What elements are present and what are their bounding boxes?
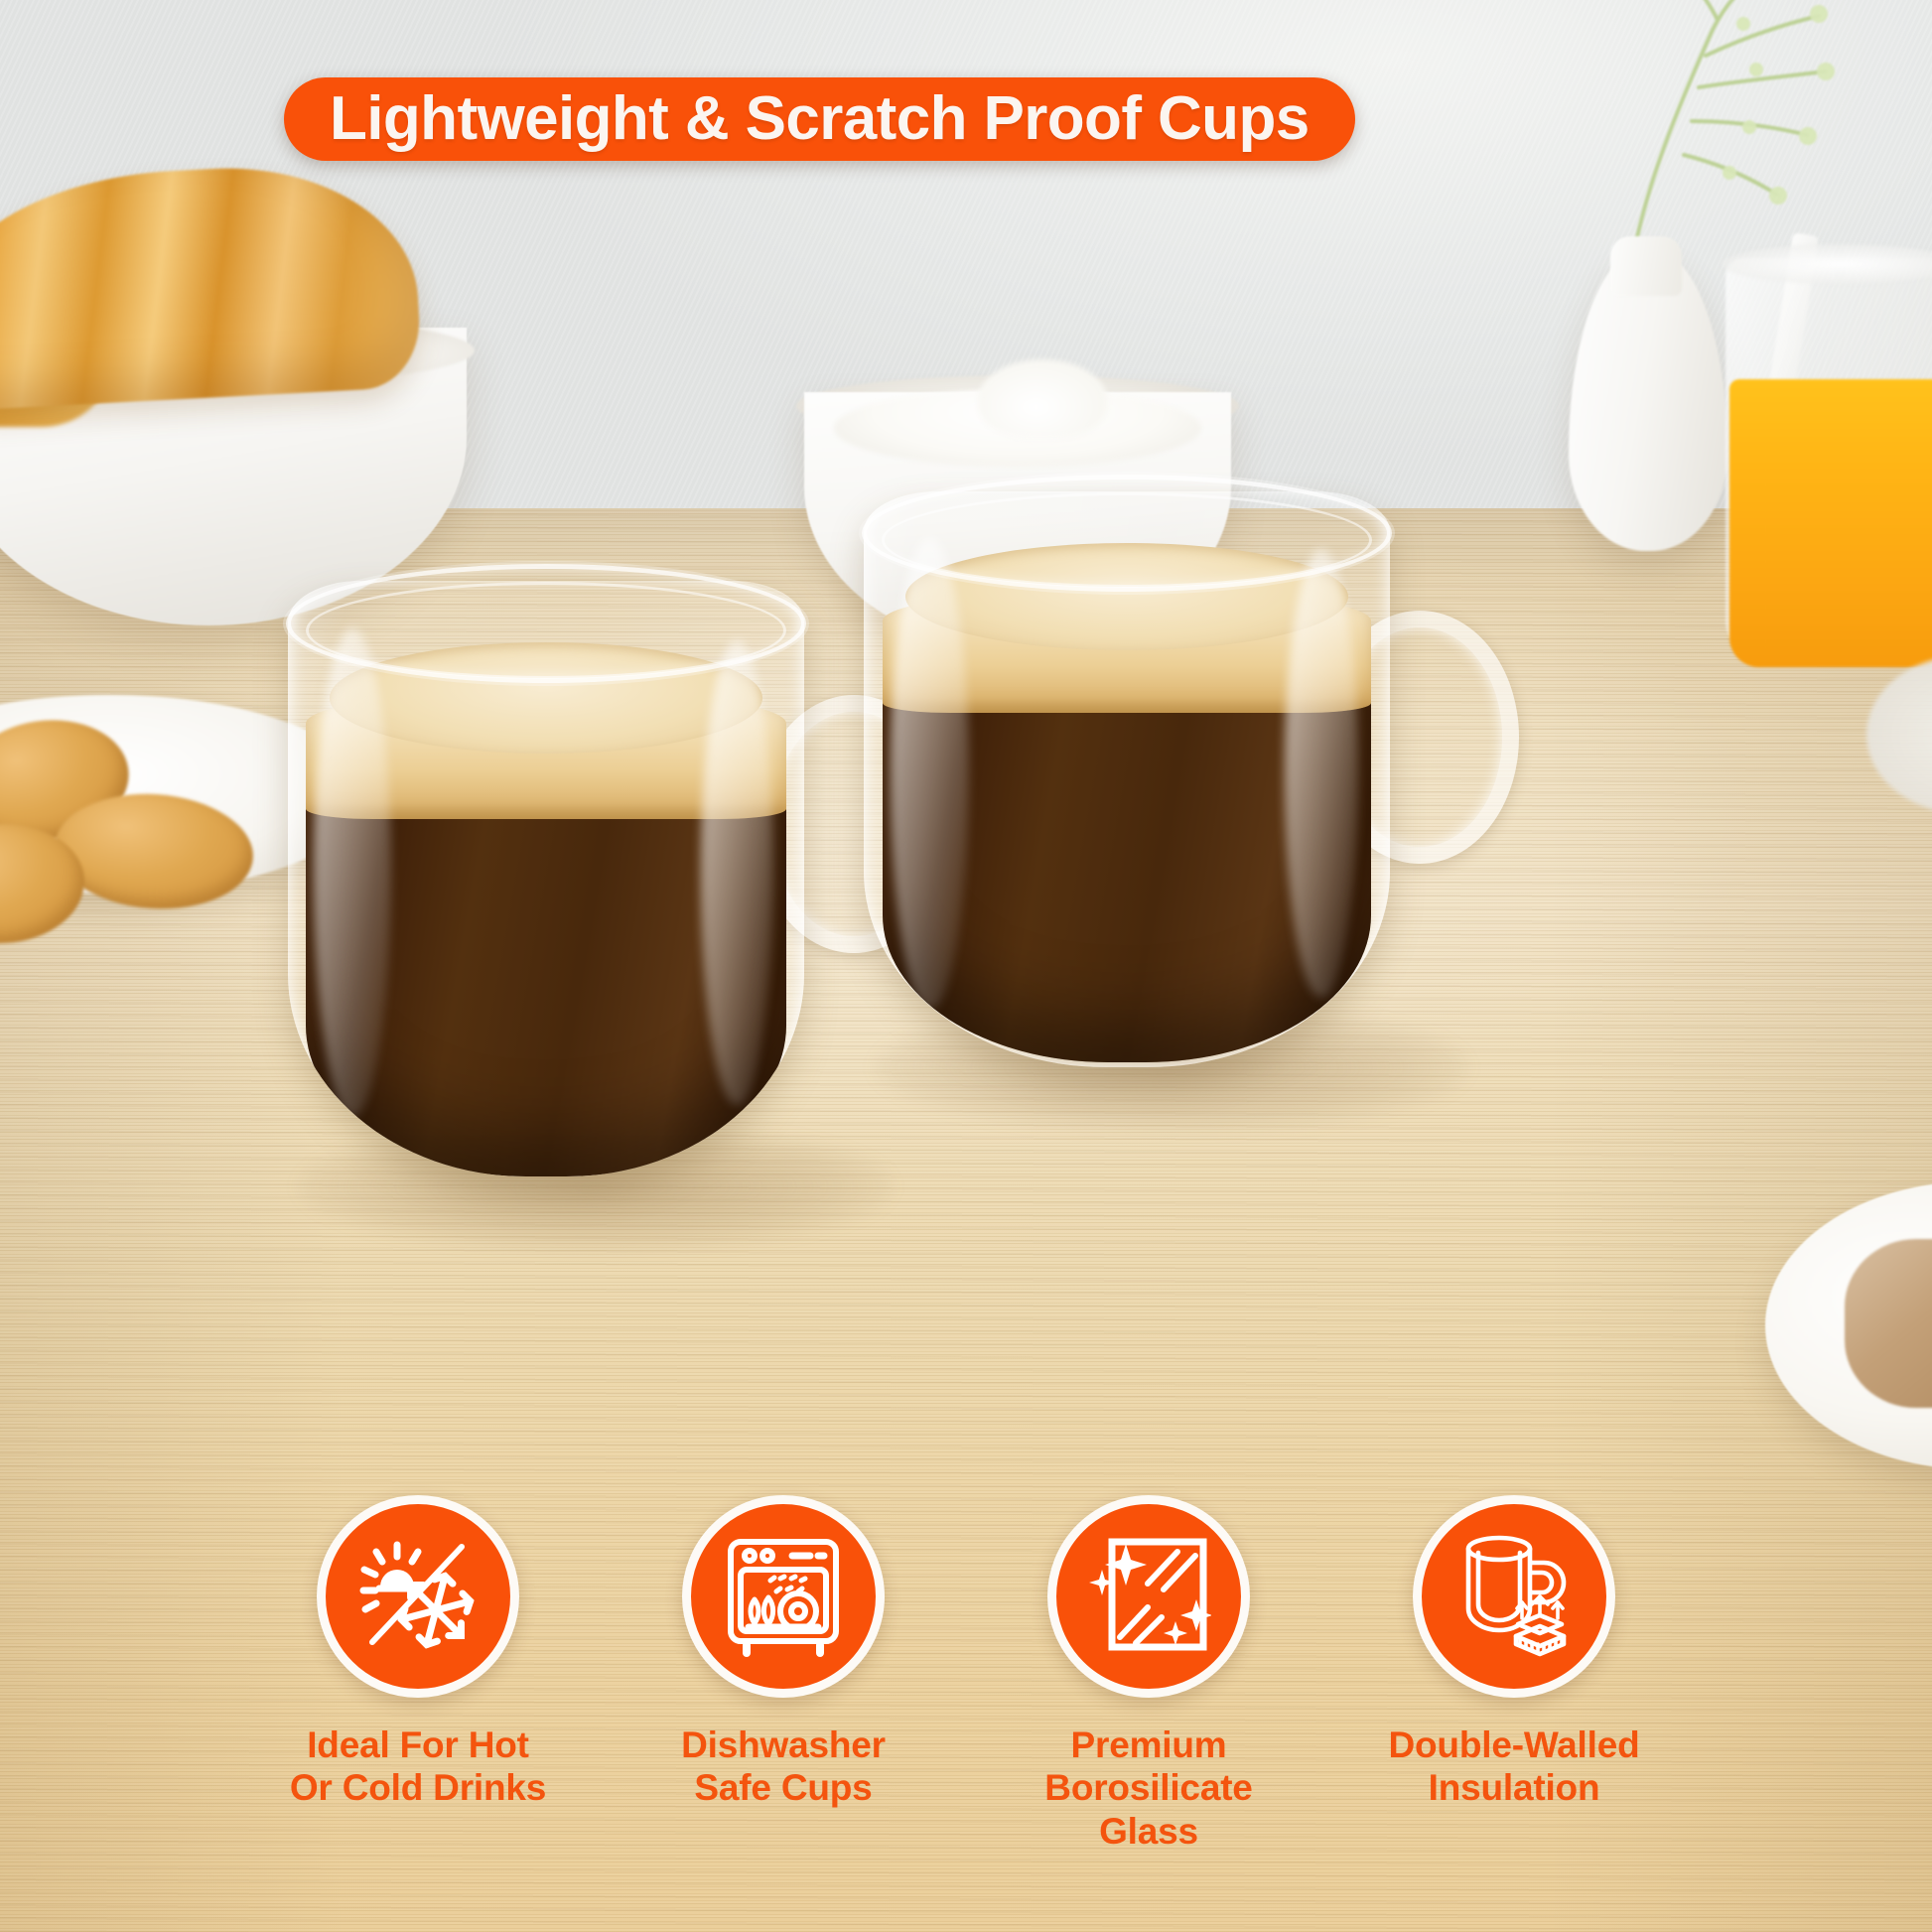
feature-item-hot-cold[interactable]: Ideal For Hot Or Cold Drinks [264, 1495, 572, 1810]
feature-label-borosilicate: Premium Borosilicate Glass [995, 1724, 1303, 1853]
coffee-mug-right-inner-rim [882, 492, 1372, 588]
headline-text: Lightweight & Scratch Proof Cups [330, 88, 1310, 150]
sparkling-glass-icon [1086, 1534, 1211, 1659]
dishwasher-icon [721, 1534, 846, 1659]
feature-strip: Ideal For Hot Or Cold Drinks [0, 1495, 1932, 1853]
hot-cold-icon [354, 1533, 482, 1660]
feature-badge-borosilicate [1047, 1495, 1250, 1698]
coffee-mug-right-gloss [891, 537, 970, 1010]
feature-label-hot-cold: Ideal For Hot Or Cold Drinks [290, 1724, 546, 1810]
headline-banner: Lightweight & Scratch Proof Cups [284, 77, 1355, 161]
coffee-mug-left-inner-rim [306, 582, 786, 679]
yogurt-peak [978, 359, 1107, 439]
feature-badge-dishwasher [682, 1495, 885, 1698]
feature-item-dishwasher[interactable]: Dishwasher Safe Cups [629, 1495, 937, 1810]
double-wall-mug-icon [1450, 1533, 1578, 1660]
feature-badge-double-wall [1413, 1495, 1615, 1698]
feature-item-borosilicate[interactable]: Premium Borosilicate Glass [995, 1495, 1303, 1853]
feature-item-double-wall[interactable]: Double-Walled Insulation [1360, 1495, 1668, 1810]
orange-juice-liquid [1729, 379, 1932, 667]
coffee-mug-left-gloss [314, 628, 391, 1117]
coffee-mug-right-gloss [1285, 549, 1358, 998]
coffee-mug-left-gloss [701, 640, 773, 1105]
flower-vase-neck [1610, 236, 1682, 296]
feature-label-double-wall: Double-Walled Insulation [1389, 1724, 1640, 1810]
feature-badge-hot-cold [317, 1495, 519, 1698]
product-marketing-image: Lightweight & Scratch Proof Cups [0, 0, 1932, 1932]
feature-label-dishwasher: Dishwasher Safe Cups [681, 1724, 886, 1810]
